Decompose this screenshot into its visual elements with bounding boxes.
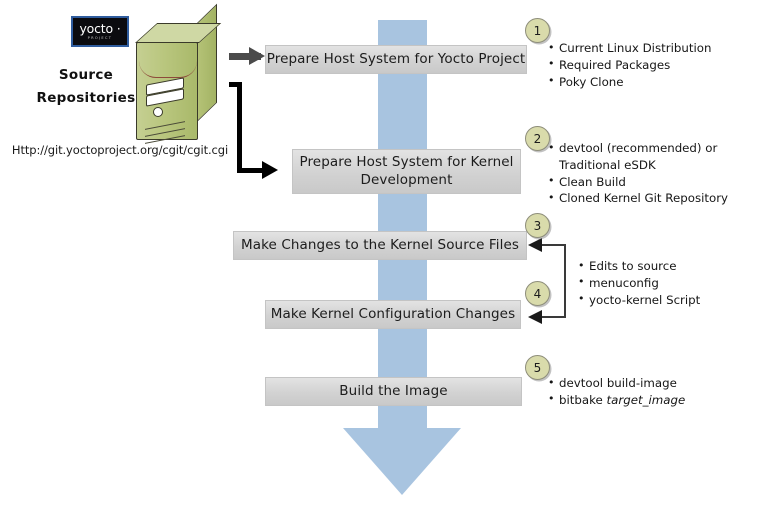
arrowhead-to-box2-icon: [262, 161, 278, 179]
note-item: Edits to source: [578, 258, 764, 275]
process-box-prepare-host-yocto[interactable]: Prepare Host System for Yocto Project: [265, 45, 527, 74]
note-item: Required Packages: [548, 57, 764, 74]
step-badge-5: 5: [525, 355, 550, 380]
notes-step-5: devtool build-image bitbake target_image: [548, 375, 764, 409]
yocto-project-logo: yocto · PROJECT: [71, 16, 129, 47]
process-box-build-the-image[interactable]: Build the Image: [265, 377, 522, 406]
source-repositories-url: Http://git.yoctoproject.org/cgit/cgit.cg…: [4, 143, 236, 157]
bitbake-target-arg: target_image: [607, 393, 686, 407]
step-badge-1: 1: [525, 18, 550, 43]
arrowhead-to-box1-icon: [249, 47, 265, 65]
server-front-face: [136, 42, 198, 140]
server-side-face: [197, 4, 217, 122]
process-box-make-kernel-source-changes[interactable]: Make Changes to the Kernel Source Files: [233, 231, 527, 260]
notes-step-3-and-4: Edits to source menuconfig yocto-kernel …: [578, 258, 764, 308]
step-badge-3: 3: [525, 213, 550, 238]
note-item: yocto-kernel Script: [578, 292, 764, 309]
server-icon: [136, 24, 232, 140]
process-box-make-kernel-config-changes[interactable]: Make Kernel Configuration Changes: [265, 300, 521, 329]
arrowhead-to-box3-icon: [528, 238, 542, 252]
note-item: devtool (recommended) or Traditional eSD…: [548, 140, 764, 174]
yocto-logo-wordmark: yocto ·: [79, 23, 120, 36]
flow-band: [378, 20, 427, 430]
note-item: Poky Clone: [548, 74, 764, 91]
yocto-logo-subtitle: PROJECT: [88, 37, 113, 41]
diagram-canvas: yocto · PROJECT Source Repositories Http…: [0, 0, 769, 517]
connector-server-to-box2-vertical: [237, 82, 242, 172]
note-item: Current Linux Distribution: [548, 40, 764, 57]
arrowhead-to-box4-icon: [528, 310, 542, 324]
step-badge-4: 4: [525, 281, 550, 306]
process-box-prepare-host-kernel[interactable]: Prepare Host System for Kernel Developme…: [292, 149, 521, 194]
note-item: Cloned Kernel Git Repository: [548, 190, 764, 207]
server-arc: [139, 61, 197, 78]
notes-step-2: devtool (recommended) or Traditional eSD…: [548, 140, 764, 207]
feedback-loop-vertical: [564, 244, 566, 318]
bitbake-command: bitbake: [559, 393, 607, 407]
flow-arrow-down-icon: [343, 428, 461, 495]
server-power-light: [153, 107, 163, 117]
note-item-bitbake: bitbake target_image: [548, 392, 764, 409]
note-item: menuconfig: [578, 275, 764, 292]
note-item: Clean Build: [548, 174, 764, 191]
step-badge-2: 2: [525, 126, 550, 151]
note-item: devtool build-image: [548, 375, 764, 392]
notes-step-1: Current Linux Distribution Required Pack…: [548, 40, 764, 90]
